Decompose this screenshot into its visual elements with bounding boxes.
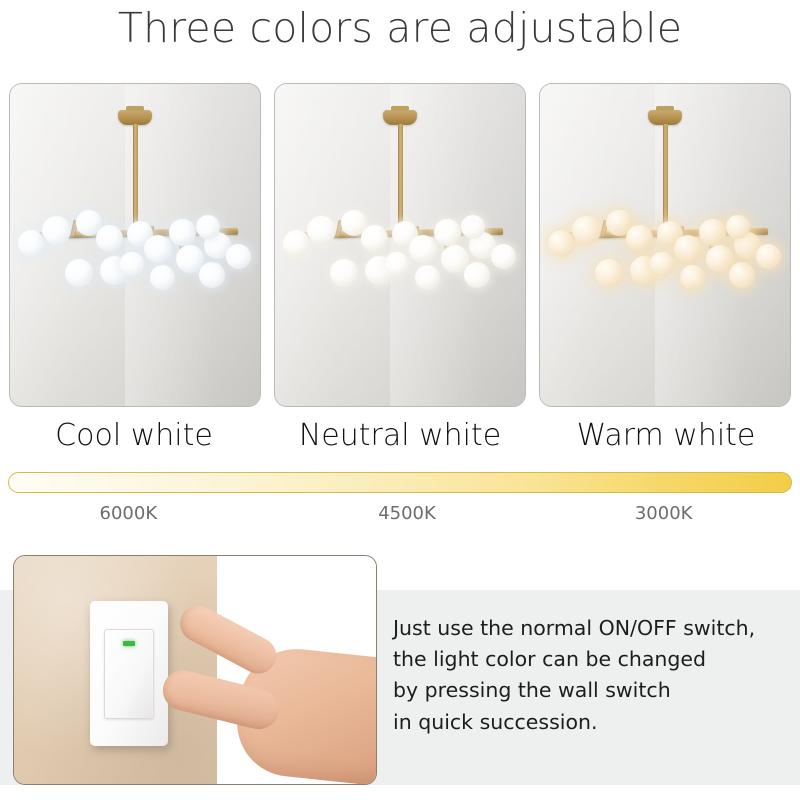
- hand-illustration: [152, 642, 377, 785]
- caption-line-4: in quick succession.: [393, 710, 793, 734]
- label-neutral-white: Neutral white: [275, 418, 525, 460]
- down-rod: [398, 124, 403, 231]
- kelvin-label-4500k: 4500K: [288, 503, 545, 529]
- switch-rocker: [104, 629, 154, 719]
- caption-line-1: Just use the normal ON/OFF switch,: [393, 616, 793, 640]
- color-temperature-gradient-bar: [8, 472, 792, 493]
- instruction-caption: Just use the normal ON/OFF switch, the l…: [393, 616, 793, 741]
- color-labels-row: Cool white Neutral white Warm white: [9, 418, 791, 460]
- page-title: Three colors are adjustable: [0, 4, 800, 52]
- color-panels-row: [9, 83, 791, 405]
- kelvin-label-3000k: 3000K: [544, 503, 791, 529]
- panel-cool-white: [9, 83, 261, 407]
- label-warm-white: Warm white: [541, 418, 791, 460]
- led-indicator-icon: [123, 641, 135, 646]
- down-rod: [663, 124, 668, 231]
- panel-neutral-white: [274, 83, 526, 407]
- panel-warm-white: [539, 83, 791, 407]
- kelvin-tick-row: 6000K 4500K 3000K: [9, 503, 791, 529]
- chandelier-illustration: [275, 84, 525, 406]
- ceiling-canopy: [383, 110, 417, 125]
- chandelier-illustration: [540, 84, 790, 406]
- ceiling-canopy: [648, 110, 682, 125]
- label-cool-white: Cool white: [9, 418, 259, 460]
- down-rod: [133, 124, 138, 231]
- caption-line-2: the light color can be changed: [393, 647, 793, 671]
- ceiling-canopy: [118, 110, 152, 125]
- wall-switch-photo: [13, 555, 377, 785]
- kelvin-label-6000k: 6000K: [9, 503, 288, 529]
- chandelier-illustration: [10, 84, 260, 406]
- caption-line-3: by pressing the wall switch: [393, 678, 793, 702]
